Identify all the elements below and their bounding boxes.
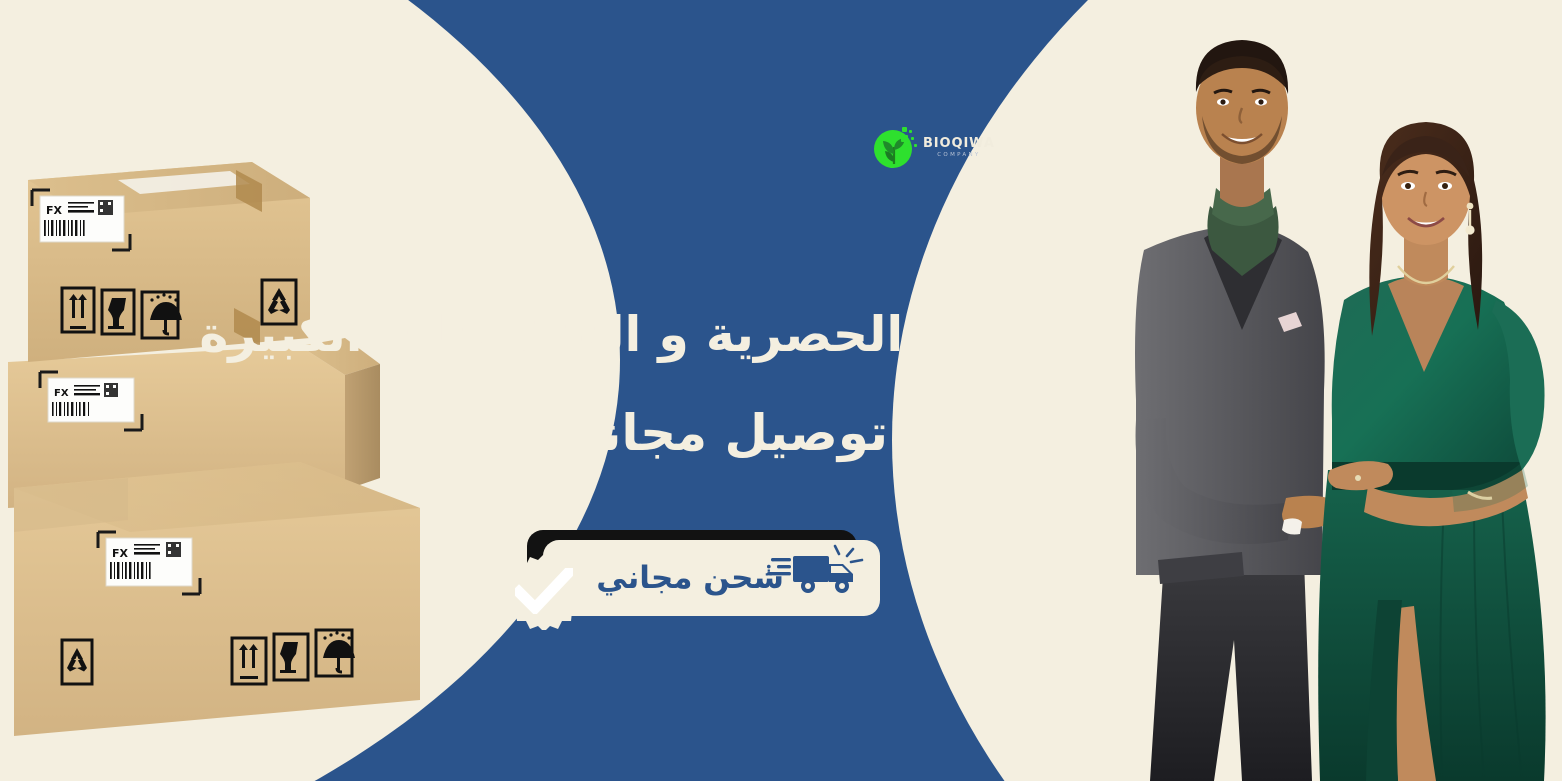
logo-name: BIOQIWA (923, 137, 995, 150)
pixel-dot (901, 135, 908, 142)
svg-text:FX: FX (46, 204, 63, 217)
box-bottom: FX (14, 462, 420, 736)
badge-label: شحن مجاني (596, 560, 784, 596)
couple-illustration (1092, 0, 1562, 781)
pixel-dot (914, 144, 917, 147)
page-subtitle: توصيل مجاني (420, 404, 1020, 462)
logo-subtitle: COMPANY (923, 153, 995, 159)
promo-banner: FX (0, 0, 1562, 781)
svg-text:FX: FX (112, 547, 129, 560)
svg-text:FX: FX (54, 388, 69, 399)
woman-figure (1318, 122, 1545, 781)
package-boxes-illustration: FX (0, 140, 420, 750)
leaf-circle-icon (874, 127, 918, 171)
delivery-truck-icon (767, 544, 867, 596)
free-shipping-badge[interactable]: شحن مجاني (527, 530, 885, 620)
check-seal-icon (505, 552, 583, 630)
pixel-dot (902, 127, 907, 132)
man-figure (1135, 40, 1342, 781)
couple-photo (1092, 0, 1562, 781)
pixel-dot (909, 130, 912, 133)
boxes-svg: FX (0, 140, 420, 750)
pixel-dot (911, 137, 914, 140)
page-title: العروض الحصرية و التخفيضات الكبيرة (330, 306, 1110, 363)
checkmark-icon (515, 568, 573, 614)
logo-wordmark: BIOQIWA COMPANY (923, 137, 995, 161)
brand-logo[interactable]: BIOQIWA COMPANY (874, 126, 992, 172)
pixel-dot (907, 143, 911, 147)
